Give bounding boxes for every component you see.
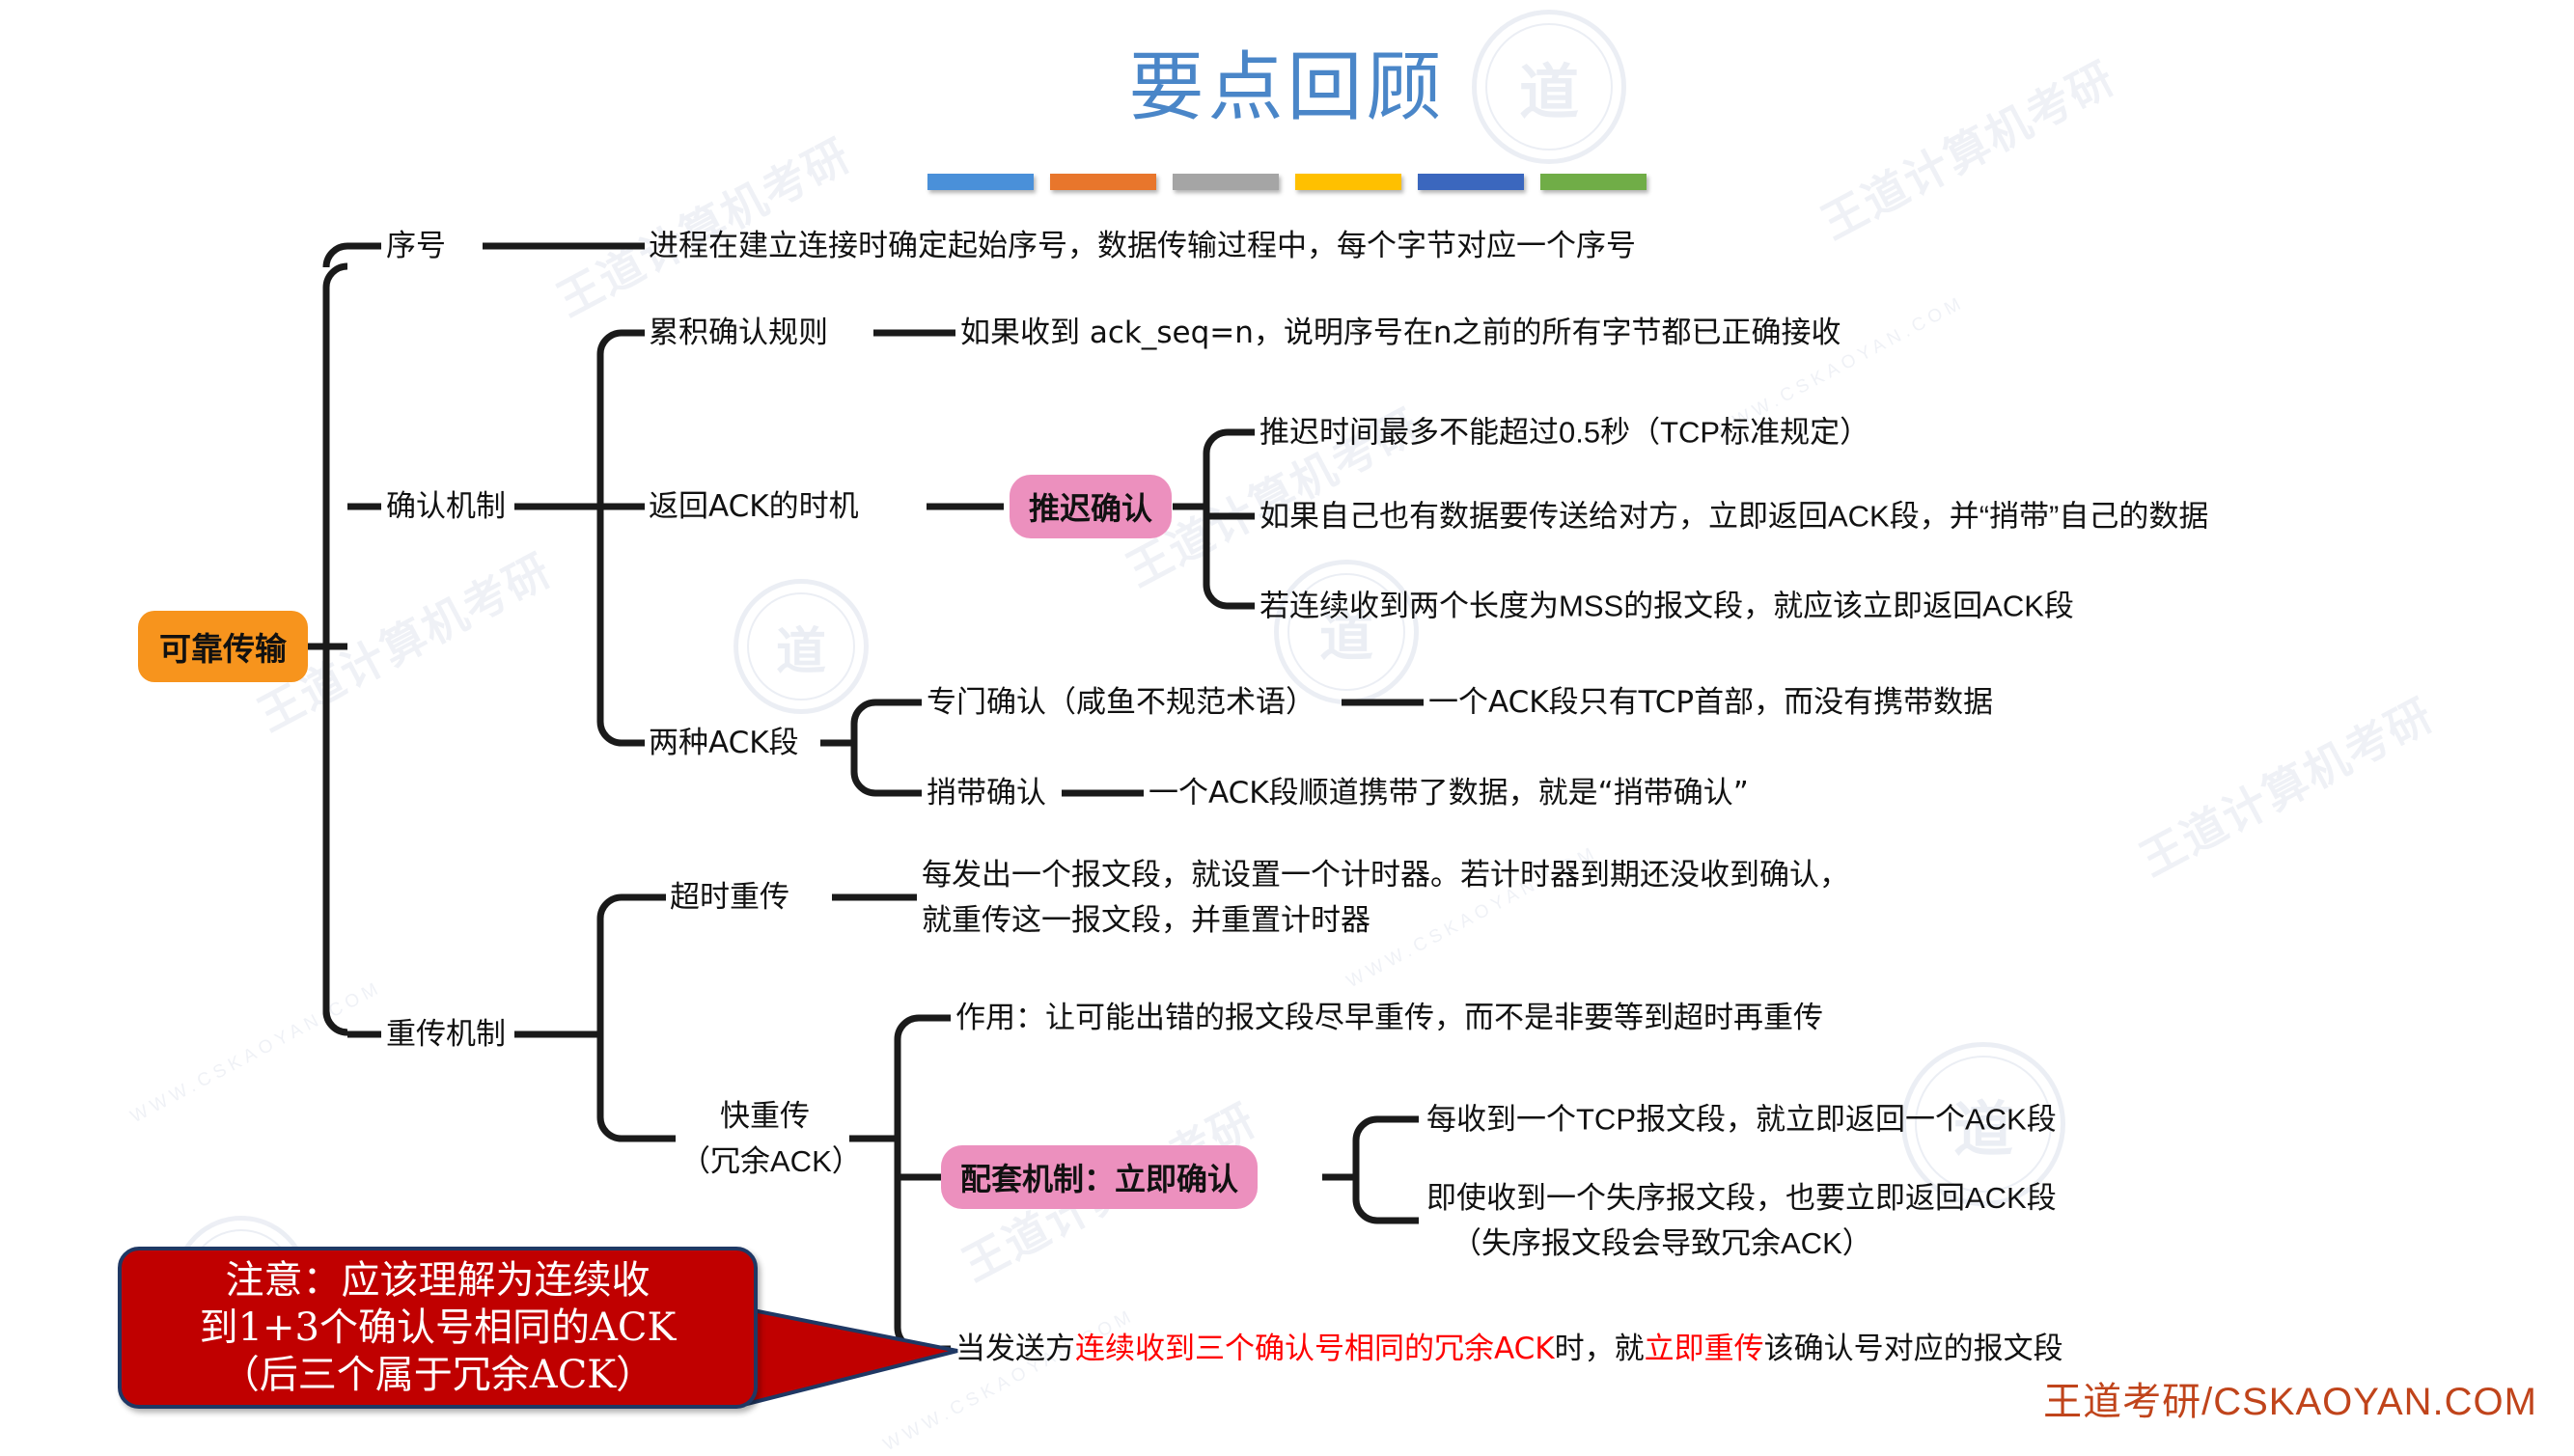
callout-line-1: 注意：应该理解为连续收 [226,1257,650,1305]
item-delayed-ack-2: 如果自己也有数据要传送给对方，立即返回ACK段，并“捎带”自己的数据 [1259,495,2208,538]
branch-label-ack-mechanism[interactable]: 确认机制 [386,487,506,526]
item-immediate-ack-1: 每收到一个TCP报文段，就立即返回一个ACK段 [1426,1098,2057,1141]
detail-sequence-number: 进程在建立连接时确定起始序号，数据传输过程中，每个字节对应一个序号 [649,227,1636,265]
bar-orange [1050,174,1156,190]
conclusion-fast-retransmission: 当发送方连续收到三个确认号相同的冗余ACK时，就立即重传该确认号对应的报文段 [955,1330,2063,1368]
bar-green [1540,174,1647,190]
node-timeout-retransmission[interactable]: 超时重传 [670,878,789,917]
node-fast-retransmission-line1: 快重传 [680,1093,849,1139]
detail-timeout-retransmission: 每发出一个报文段，就设置一个计时器。若计时器到期还没收到确认， 就重传这一报文段… [922,852,1849,943]
item-immediate-ack-2-line1: 即使收到一个失序报文段，也要立即返回ACK段 [1426,1175,2057,1221]
callout-line-2: 到1+3个确认号相同的ACK [200,1305,677,1352]
item-immediate-ack-2: 即使收到一个失序报文段，也要立即返回ACK段 （失序报文段会导致冗余ACK） [1426,1175,2057,1266]
node-two-ack-types[interactable]: 两种ACK段 [649,724,799,762]
mindmap-connectors [0,0,2574,1447]
conclusion-seg-1: 当发送方 [955,1332,1075,1366]
node-fast-retransmission[interactable]: 快重传 （冗余ACK） [680,1093,849,1184]
item-delayed-ack-3: 若连续收到两个长度为MSS的报文段，就应该立即返回ACK段 [1259,585,2074,628]
watermark-url: WWW.CSKAOYAN.COM [127,977,386,1128]
detail-timeout-line1: 每发出一个报文段，就设置一个计时器。若计时器到期还没收到确认， [922,852,1849,897]
detail-timeout-line2: 就重传这一报文段，并重置计时器 [922,897,1849,943]
badge-delayed-ack-label: 推迟确认 [1029,484,1152,529]
callout-line-3: （后三个属于冗余ACK） [221,1352,654,1399]
root-node-reliable-transmission[interactable]: 可靠传输 [138,611,308,682]
detail-dedicated-ack: 一个ACK段只有TCP首部，而没有携带数据 [1428,683,1993,722]
node-dedicated-ack[interactable]: 专门确认（咸鱼不规范术语） [927,683,1315,722]
seal-icon: 道 [733,579,869,714]
color-bar-strip [0,174,2574,190]
bar-gray [1173,174,1279,190]
bar-yellow [1295,174,1401,190]
item-immediate-ack-2-line2: （失序报文段会导致冗余ACK） [1426,1221,2057,1266]
branch-label-sequence-number[interactable]: 序号 [386,227,446,265]
badge-immediate-ack[interactable]: 配套机制：立即确认 [941,1145,1258,1209]
node-fast-retransmission-line2: （冗余ACK） [680,1139,849,1184]
node-ack-return-timing[interactable]: 返回ACK的时机 [649,487,859,526]
badge-immediate-ack-label: 配套机制：立即确认 [960,1155,1238,1199]
node-piggyback-ack[interactable]: 捎带确认 [927,774,1046,812]
bar-darkblue [1418,174,1524,190]
root-node-label: 可靠传输 [159,623,287,670]
conclusion-seg-3: 时，就 [1555,1332,1645,1366]
branch-label-retransmission[interactable]: 重传机制 [386,1015,506,1054]
conclusion-seg-5: 该确认号对应的报文段 [1764,1332,2063,1366]
callout-note[interactable]: 注意：应该理解为连续收 到1+3个确认号相同的ACK （后三个属于冗余ACK） [118,1247,758,1409]
item-delayed-ack-1: 推迟时间最多不能超过0.5秒（TCP标准规定） [1259,411,1869,454]
detail-piggyback-ack: 一个ACK段顺道携带了数据，就是“捎带确认” [1149,774,1749,812]
detail-fast-retransmission-purpose: 作用：让可能出错的报文段尽早重传，而不是非要等到超时再重传 [955,999,1823,1037]
node-cumulative-ack-rule[interactable]: 累积确认规则 [649,314,828,352]
page-title: 要点回顾 [0,46,2574,129]
conclusion-seg-4-highlight: 立即重传 [1645,1332,1764,1366]
detail-cumulative-ack-rule: 如果收到 ack_seq=n，说明序号在n之前的所有字节都已正确接收 [960,314,1841,352]
bar-blue [927,174,1034,190]
conclusion-seg-2-highlight: 连续收到三个确认号相同的冗余ACK [1075,1332,1555,1366]
watermark-brand: 王道计算机考研 [2127,680,2444,889]
footer-brand: 王道考研/CSKAOYAN.COM [2043,1370,2537,1426]
callout-pointer-icon [743,1301,965,1416]
badge-delayed-ack[interactable]: 推迟确认 [1010,475,1172,538]
watermark-brand: 王道计算机考研 [544,121,861,329]
